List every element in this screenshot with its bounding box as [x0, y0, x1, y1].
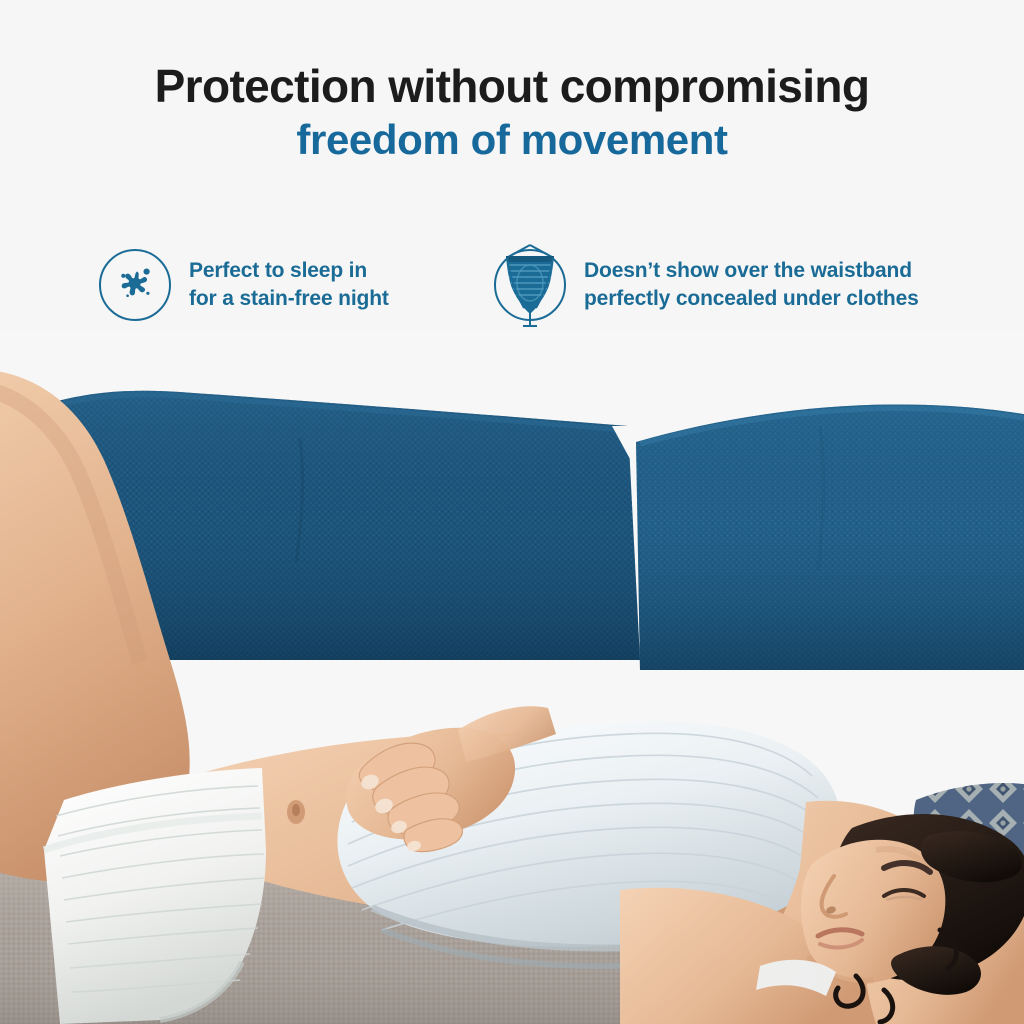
ad-creative: Protection without compromising freedom …: [0, 0, 1024, 1024]
feature-label-sleep: Perfect to sleep in for a stain-free nig…: [189, 257, 389, 312]
page-title: Protection without compromising freedom …: [0, 62, 1024, 162]
feature-line-1: Doesn’t show over the waistband: [584, 257, 919, 285]
headline-line-1: Protection without compromising: [0, 62, 1024, 111]
feature-line-2: perfectly concealed under clothes: [584, 285, 919, 313]
underwear-brief-icon: [494, 249, 566, 321]
feature-item-sleep: Perfect to sleep in for a stain-free nig…: [99, 249, 389, 321]
feature-item-concealed: Doesn’t show over the waistband perfectl…: [494, 249, 919, 321]
feature-list: Perfect to sleep in for a stain-free nig…: [0, 249, 1024, 339]
feature-line-1: Perfect to sleep in: [189, 257, 389, 285]
feature-label-concealed: Doesn’t show over the waistband perfectl…: [584, 257, 919, 312]
headline-line-2: freedom of movement: [0, 118, 1024, 163]
lifestyle-photo: [0, 330, 1024, 1024]
feature-line-2: for a stain-free night: [189, 285, 389, 313]
stain-splat-icon: [99, 249, 171, 321]
